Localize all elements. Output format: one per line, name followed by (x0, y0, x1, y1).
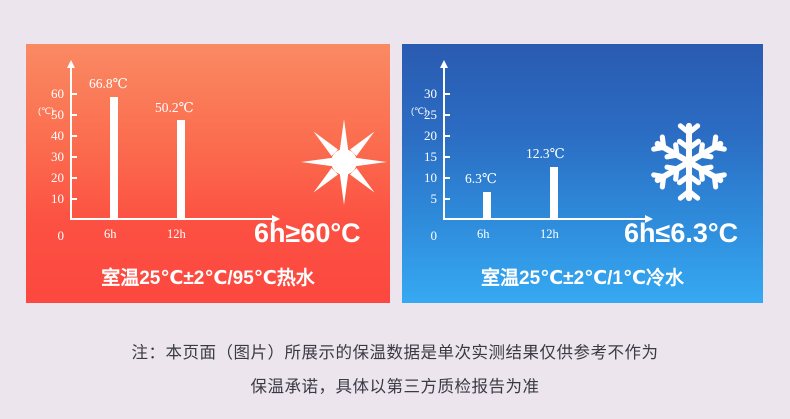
cold-bar-label-6h: 6.3℃ (465, 171, 497, 187)
cold-x-axis (443, 218, 647, 220)
hot-tick-10 (72, 198, 77, 200)
hot-bar-label-6h: 66.8℃ (89, 76, 128, 92)
hot-headline: 6h≥60°C (254, 218, 361, 249)
cold-ytick-label-15: 15 (411, 150, 437, 163)
cold-tick-25 (445, 114, 450, 116)
hot-bar-6h (110, 97, 118, 218)
cold-y-axis-arrow-icon (440, 60, 448, 68)
hot-bar-12h (177, 120, 185, 218)
hot-tick-20 (72, 177, 77, 179)
cold-ytick-label-20: 20 (411, 129, 437, 142)
cold-bar-6h (483, 192, 491, 218)
hot-tick-60 (72, 93, 77, 95)
hot-caption: 室温25℃±2℃/95℃热水 (26, 263, 390, 290)
cold-water-panel: (℃) 30 25 20 15 10 5 0 6.3℃ 12.3℃ 6h (402, 44, 763, 303)
hot-tick-40 (72, 135, 77, 137)
hot-y-axis-arrow-icon (67, 60, 75, 68)
cold-caption: 室温25℃±2℃/1℃冷水 (402, 263, 763, 290)
hot-xtick-label-6h: 6h (104, 227, 117, 242)
hot-ytick-label-20: 20 (38, 171, 64, 184)
cold-tick-10 (445, 177, 450, 179)
sun-icon (301, 119, 387, 205)
hot-bar-label-12h: 50.2℃ (155, 100, 194, 116)
hot-ytick-label-0: 0 (38, 229, 64, 242)
cold-xtick-label-12h: 12h (540, 227, 559, 242)
hot-tick-50 (72, 114, 77, 116)
cold-ytick-label-25: 25 (411, 108, 437, 121)
hot-ytick-label-60: 60 (38, 87, 64, 100)
hot-ytick-label-40: 40 (38, 129, 64, 142)
cold-tick-5 (445, 198, 450, 200)
cold-bar-12h (550, 167, 558, 218)
comparison-panels: (℃) 60 50 40 30 20 10 0 66.8 (0, 0, 790, 310)
cold-tick-20 (445, 135, 450, 137)
disclaimer-note: 注：本页面（图片）所展示的保温数据是单次实测结果仅供参考不作为 保温承诺，具体以… (0, 336, 790, 404)
hot-water-panel: (℃) 60 50 40 30 20 10 0 66.8 (26, 44, 390, 303)
cold-xtick-label-6h: 6h (477, 227, 490, 242)
snowflake-icon (646, 119, 732, 205)
hot-ytick-label-50: 50 (38, 108, 64, 121)
hot-xtick-label-12h: 12h (167, 227, 186, 242)
hot-x-axis (70, 218, 274, 220)
cold-tick-30 (445, 93, 450, 95)
disclaimer-line-1: 注：本页面（图片）所展示的保温数据是单次实测结果仅供参考不作为 (0, 336, 790, 370)
hot-ytick-label-10: 10 (38, 192, 64, 205)
cold-tick-15 (445, 156, 450, 158)
cold-headline: 6h≤6.3°C (624, 218, 738, 249)
cold-ytick-label-10: 10 (411, 171, 437, 184)
hot-tick-30 (72, 156, 77, 158)
cold-bar-label-12h: 12.3℃ (526, 146, 565, 162)
cold-ytick-label-5: 5 (411, 192, 437, 205)
cold-ytick-label-30: 30 (411, 87, 437, 100)
hot-ytick-label-30: 30 (38, 150, 64, 163)
cold-ytick-label-0: 0 (411, 229, 437, 242)
disclaimer-line-2: 保温承诺，具体以第三方质检报告为准 (0, 370, 790, 404)
